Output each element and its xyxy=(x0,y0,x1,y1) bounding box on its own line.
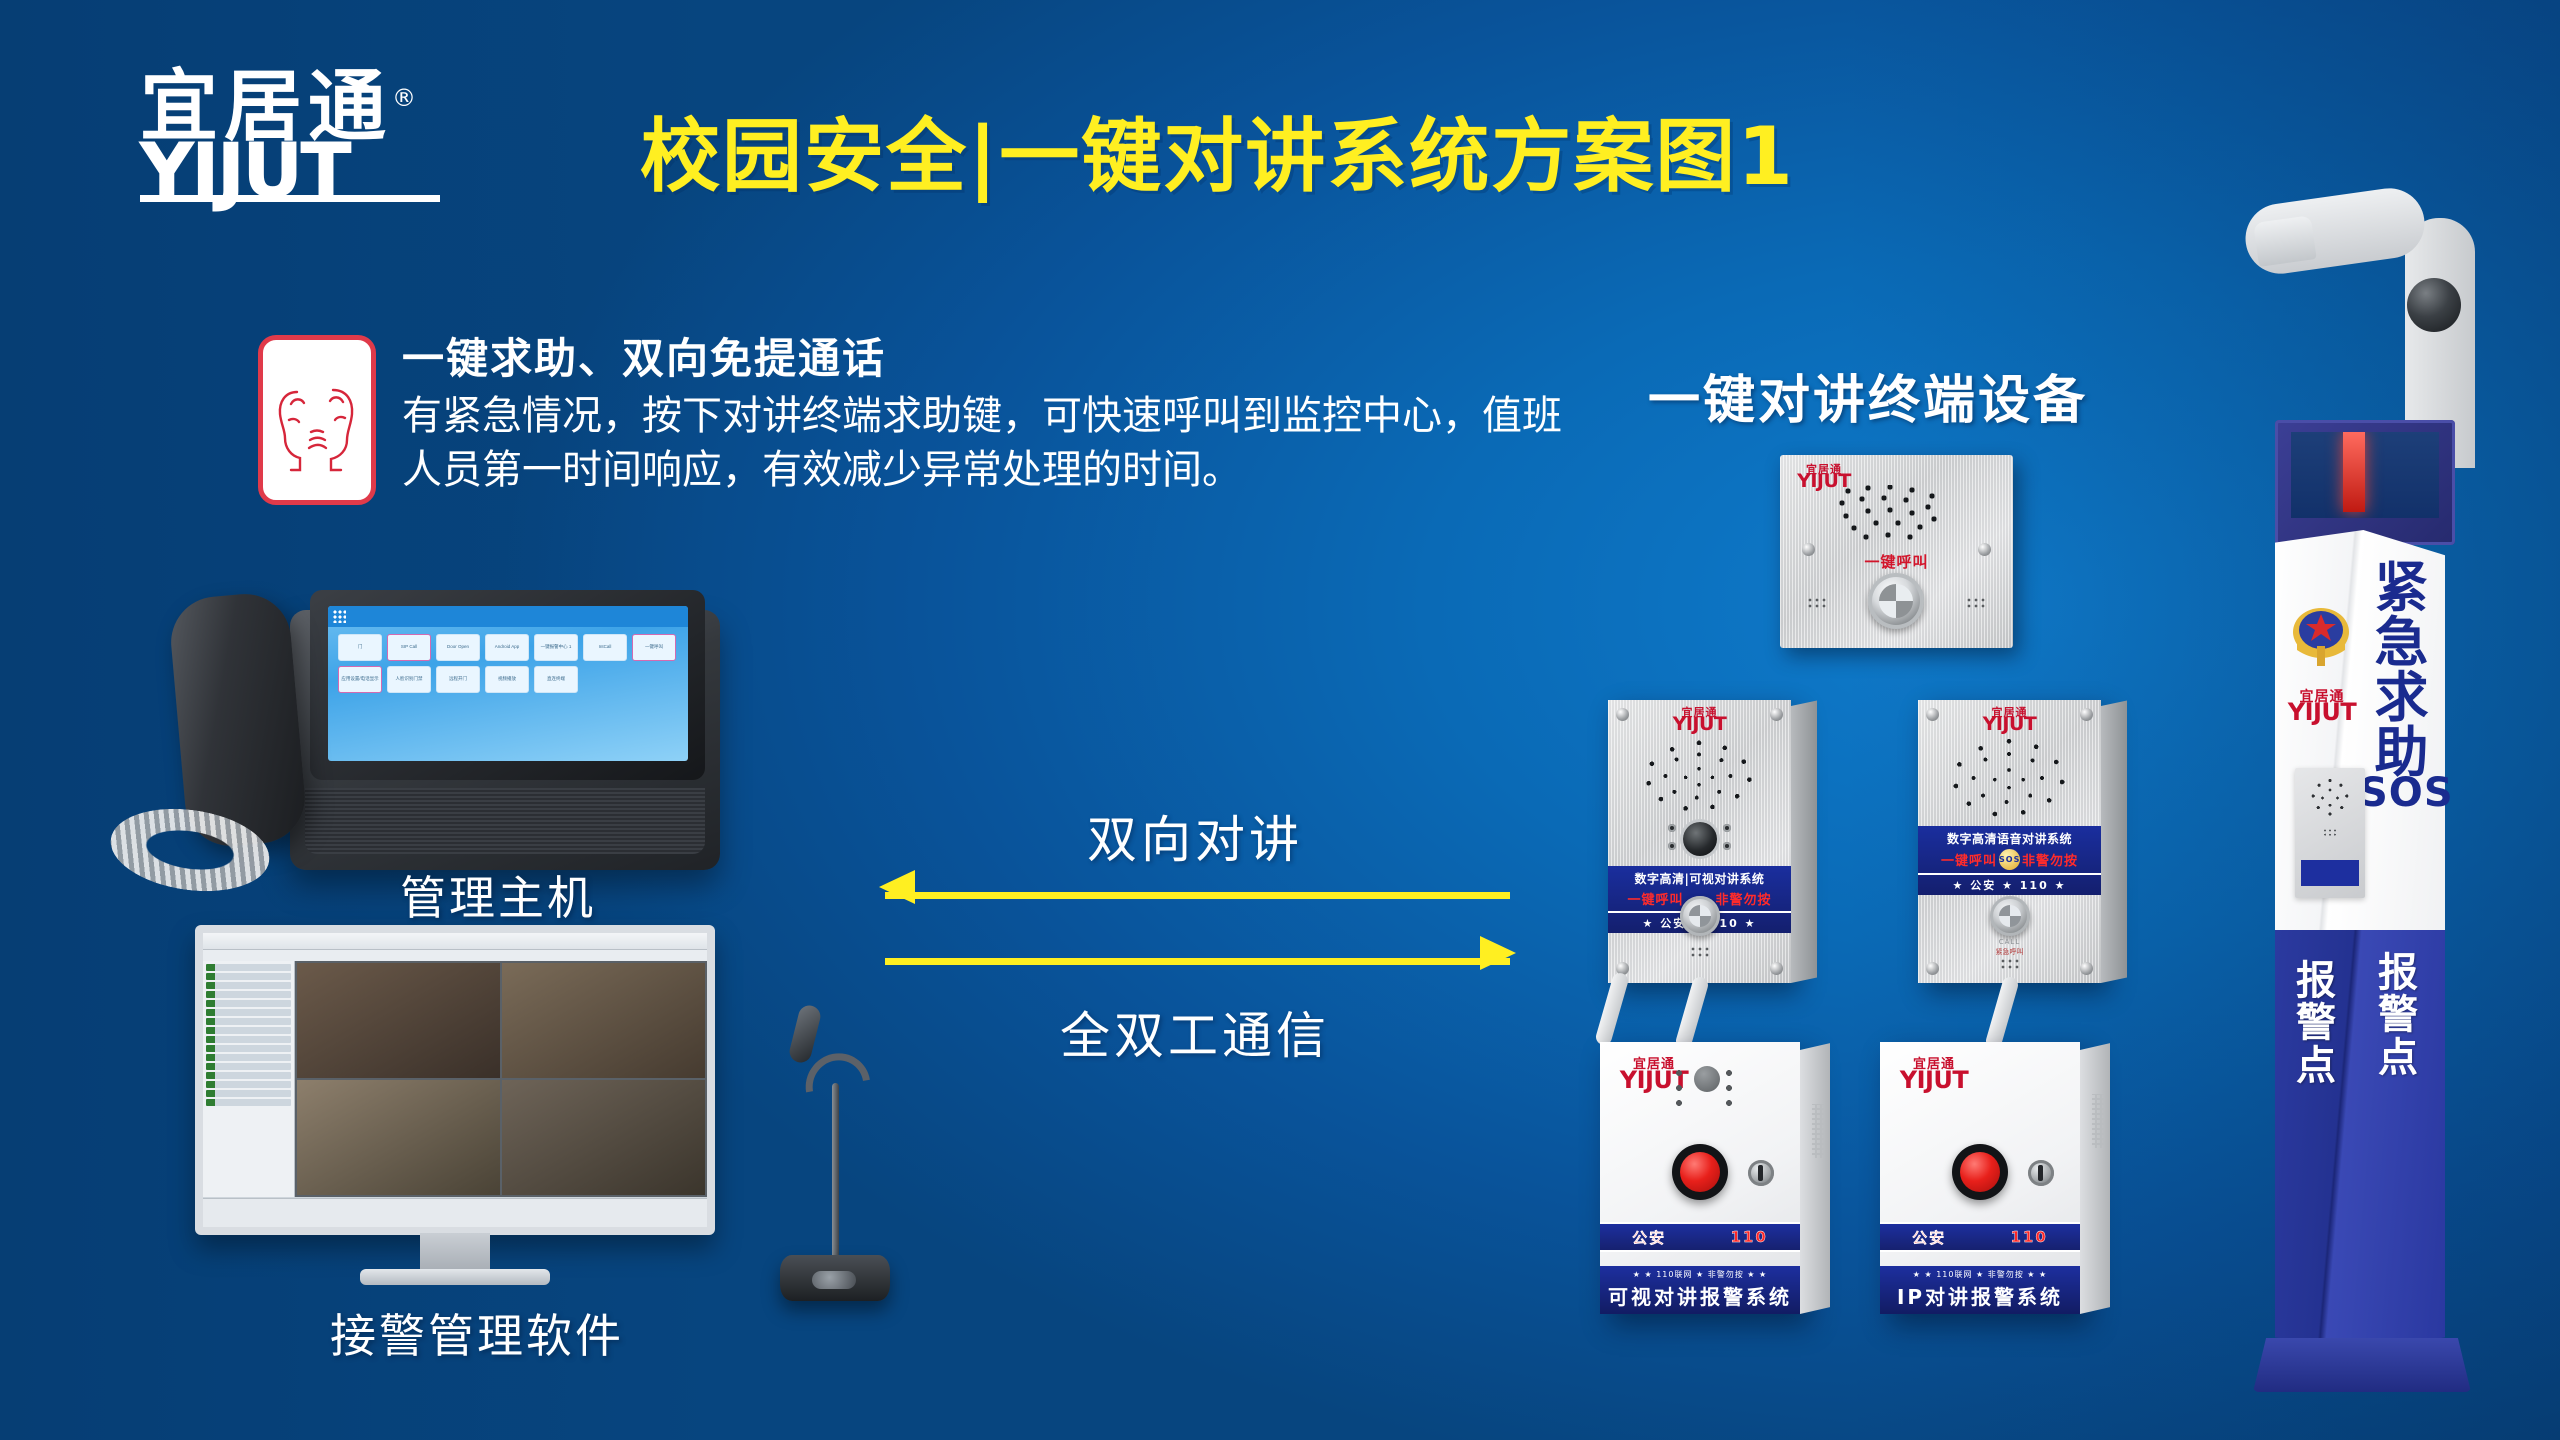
ir-led-icon xyxy=(1668,842,1676,850)
pillar-side-text-left: 报警点 xyxy=(2289,960,2343,1087)
arrow-line-left xyxy=(885,892,1510,899)
info-plate xyxy=(2301,860,2359,886)
list-item[interactable]: 应用设置/电话显示 xyxy=(338,666,382,693)
pillar-intercom-panel[interactable] xyxy=(2295,768,2365,898)
poster-background: 宜居通® YIJUT 校园安全|一键对讲系统方案图1 xyxy=(0,0,2560,1440)
page-title: 校园安全|一键对讲系统方案图1 xyxy=(640,92,1940,208)
screw-icon xyxy=(1926,962,1939,975)
list-item[interactable]: IntCall xyxy=(583,634,627,661)
device-logo: 宜居通 YIJUT xyxy=(1898,1060,1970,1090)
device-logo: 宜居通 YIJUT xyxy=(1980,708,2040,733)
screw-icon xyxy=(2080,962,2093,975)
camera-lens-icon xyxy=(1694,1066,1720,1092)
list-item[interactable]: SIP Call xyxy=(387,634,431,661)
side-vent-grille xyxy=(2092,1094,2104,1148)
microphone-capsule xyxy=(787,1003,822,1065)
box-side-face xyxy=(2101,700,2127,983)
info-plate: 数字高清语音对讲系统 一键呼叫 SOS 非警勿按 ★ 公安 ★ 110 ★ xyxy=(1918,826,2101,895)
microphone-talk-button[interactable] xyxy=(812,1271,856,1289)
video-tile[interactable] xyxy=(297,1080,500,1195)
sos-badge: SOS xyxy=(1999,849,2020,870)
desk-microphone xyxy=(770,975,900,1315)
flow-label-bottom: 全双工通信 xyxy=(845,996,1545,1068)
device-subtitle: ★ ★ 110联网 ★ 非警勿按 ★ ★ xyxy=(1600,1266,1800,1281)
arrow-line-right xyxy=(885,958,1510,965)
ir-led-icon xyxy=(1723,824,1731,832)
speaker-holes xyxy=(1643,740,1755,812)
speaker-holes xyxy=(1838,485,1954,545)
police-110-band: 公安 110 xyxy=(1880,1222,2080,1252)
logo-latin-text: YIJUT xyxy=(140,140,500,203)
feature-text: 一键求助、双向免提通话 有紧急情况，按下对讲终端求助键，可快速呼叫到监控中心，值… xyxy=(402,335,1568,505)
monitor-bezel xyxy=(195,925,715,1235)
terminal-devices-heading: 一键对讲终端设备 xyxy=(1648,358,2088,433)
video-tile[interactable] xyxy=(502,963,705,1078)
cable xyxy=(1674,975,1710,1051)
list-item[interactable]: 视频播放 xyxy=(485,666,529,693)
list-item[interactable]: Android App xyxy=(485,634,529,661)
police-emblem-icon xyxy=(2289,602,2353,670)
flush-mount-intercom-panel[interactable]: 宜居通 YIJUT 一键呼叫 xyxy=(1780,455,2013,648)
software-menubar[interactable] xyxy=(203,933,707,950)
microphone-stem xyxy=(832,1083,839,1263)
registered-mark: ® xyxy=(392,84,422,112)
pillar-logo: 宜居通 YIJUT xyxy=(2287,692,2357,723)
video-tile[interactable] xyxy=(502,1080,705,1195)
phone-speaker-grille xyxy=(305,788,705,854)
arrow-head-right xyxy=(1480,936,1516,970)
management-host-device: 门 SIP Call Door Open Android App 一键报警中心 … xyxy=(170,560,730,890)
software-body xyxy=(203,961,707,1197)
camera-dome xyxy=(2407,278,2461,332)
monitor-screen xyxy=(203,933,707,1227)
device-title-band: ★ ★ 110联网 ★ 非警勿按 ★ ★ IP对讲报警系统 xyxy=(1880,1266,2080,1314)
call-button-en-label: CALL xyxy=(1918,938,2101,946)
pillar-sos-text: SOS xyxy=(2359,770,2454,816)
key-lock-icon[interactable] xyxy=(1748,1160,1774,1186)
list-item[interactable]: Door Open xyxy=(436,634,480,661)
police-110-band: ★ 公安 ★ 110 ★ xyxy=(1918,873,2101,895)
screw-icon xyxy=(2080,708,2093,721)
ir-led-icon xyxy=(1724,1068,1735,1108)
list-item[interactable]: 一键报警中心 1 xyxy=(534,634,578,661)
microphone-holes xyxy=(1999,958,2021,974)
plate-system-name: 数字高清语音对讲系统 xyxy=(1918,826,2101,849)
box-side-face xyxy=(1800,1043,1830,1314)
microphone-holes xyxy=(1689,946,1711,962)
cable xyxy=(1594,971,1630,1047)
software-statusbar xyxy=(203,1198,707,1227)
list-item[interactable]: 一键呼叫 xyxy=(632,634,676,661)
video-tile[interactable] xyxy=(297,963,500,1078)
microphone-holes xyxy=(1965,597,1987,613)
box-side-face xyxy=(2080,1043,2110,1314)
monitor-stand xyxy=(360,1269,550,1285)
call-button[interactable] xyxy=(1990,896,2030,936)
cable xyxy=(1984,975,2020,1051)
screw-icon xyxy=(1616,708,1629,721)
microphone-holes xyxy=(1806,597,1828,613)
flow-label-top: 双向对讲 xyxy=(845,800,1545,872)
ir-led-icon xyxy=(1668,824,1676,832)
talking-heads-glyph xyxy=(267,374,367,484)
feature-block: 一键求助、双向免提通话 有紧急情况，按下对讲终端求助键，可快速呼叫到监控中心，值… xyxy=(258,335,1568,505)
two-people-talking-icon xyxy=(258,335,376,505)
phone-screen-topbar xyxy=(328,606,688,627)
alarm-software-monitor xyxy=(195,925,755,1295)
screw-icon xyxy=(1770,962,1783,975)
pillar-beacon-window xyxy=(2291,432,2439,518)
monitor-neck xyxy=(420,1233,490,1271)
pillar-side-text-right: 报警点 xyxy=(2371,952,2425,1079)
flow-arrows: 双向对讲 全双工通信 xyxy=(845,800,1545,1080)
video-wall[interactable] xyxy=(295,961,707,1197)
feature-title: 一键求助、双向免提通话 xyxy=(402,335,1568,383)
microphone-holes xyxy=(2322,828,2337,839)
ip-intercom-alarm-system-box[interactable]: 宜居通 YIJUT 公安 110 ★ ★ 110联网 ★ 非警勿按 ★ ★ IP… xyxy=(1880,1042,2080,1314)
list-item[interactable]: 门 xyxy=(338,634,382,661)
list-item[interactable]: 直连终端 xyxy=(534,666,578,693)
pillar-base-plate xyxy=(2253,1338,2471,1392)
company-logo: 宜居通® YIJUT xyxy=(140,70,500,202)
list-item[interactable]: 远程开门 xyxy=(436,666,480,693)
red-warning-lamp xyxy=(2343,432,2365,512)
screw-icon xyxy=(1926,708,1939,721)
list-item[interactable]: 人脸识别门禁 xyxy=(387,666,431,693)
device-tree-panel[interactable] xyxy=(203,961,295,1197)
call-button[interactable] xyxy=(1680,896,1720,936)
one-key-call-label: 一键呼叫 xyxy=(1780,551,2013,572)
device-title: 可视对讲报警系统 xyxy=(1600,1281,1800,1310)
ptz-dome-camera-icon xyxy=(2253,215,2317,267)
plate-system-name: 数字高清|可视对讲系统 xyxy=(1608,866,1791,889)
hd-video-intercom-box[interactable]: 宜居通 YIJUT 数字高清|可视对讲系统 一键呼叫 非警勿按 ★ 公安 ★ 1… xyxy=(1608,700,1791,983)
emergency-alarm-button[interactable] xyxy=(1672,1144,1728,1200)
screw-icon xyxy=(1770,708,1783,721)
side-vent-grille xyxy=(1812,1104,1824,1158)
phone-screen: 门 SIP Call Door Open Android App 一键报警中心 … xyxy=(328,606,688,761)
speaker-holes xyxy=(1950,738,2068,818)
police-110-band: 公安 110 xyxy=(1600,1222,1800,1252)
app-grid-icon xyxy=(333,610,346,623)
key-lock-icon[interactable] xyxy=(2028,1160,2054,1186)
feature-body: 有紧急情况，按下对讲终端求助键，可快速呼叫到监控中心，值班人员第一时间响应，有效… xyxy=(402,389,1568,497)
phone-app-tiles: 门 SIP Call Door Open Android App 一键报警中心 … xyxy=(338,634,678,693)
video-intercom-alarm-system-box[interactable]: 宜居通 YIJUT 公安 110 ★ ★ 110联网 ★ 非警勿按 ★ ★ 可视… xyxy=(1600,1042,1800,1314)
camera-lens-icon xyxy=(1683,822,1717,856)
device-title: IP对讲报警系统 xyxy=(1880,1281,2080,1310)
call-button-cn-label: 紧急呼叫 xyxy=(1918,947,2101,957)
phone-screen-bezel: 门 SIP Call Door Open Android App 一键报警中心 … xyxy=(310,590,705,780)
speaker-holes xyxy=(2309,778,2351,818)
emergency-alarm-button[interactable] xyxy=(1952,1144,2008,1200)
emergency-help-pillar[interactable]: 宜居通 YIJUT 紧急求助 SOS 报警点 报警点 xyxy=(2255,230,2555,1410)
device-logo: 宜居通 YIJUT xyxy=(1670,708,1730,733)
plate-call-warning: 一键呼叫 SOS 非警勿按 xyxy=(1918,849,2101,873)
pillar-front-text: 紧急求助 xyxy=(2367,560,2437,780)
call-button[interactable] xyxy=(1868,573,1924,629)
alarm-software-label: 接警管理软件 xyxy=(330,1300,624,1366)
ir-led-icon xyxy=(1674,1068,1685,1108)
hd-voice-intercom-box[interactable]: 宜居通 YIJUT 数字高清语音对讲系统 一键呼叫 SOS 非警勿按 ★ 公安 … xyxy=(1918,700,2101,983)
pillar-beacon-frame xyxy=(2275,420,2455,545)
ir-led-icon xyxy=(1723,842,1731,850)
device-subtitle: ★ ★ 110联网 ★ 非警勿按 ★ ★ xyxy=(1880,1266,2080,1281)
pillar-camera-arm-elbow xyxy=(2241,184,2429,278)
device-title-band: ★ ★ 110联网 ★ 非警勿按 ★ ★ 可视对讲报警系统 xyxy=(1600,1266,1800,1314)
management-host-label: 管理主机 xyxy=(400,862,596,928)
box-side-face xyxy=(1791,700,1817,983)
